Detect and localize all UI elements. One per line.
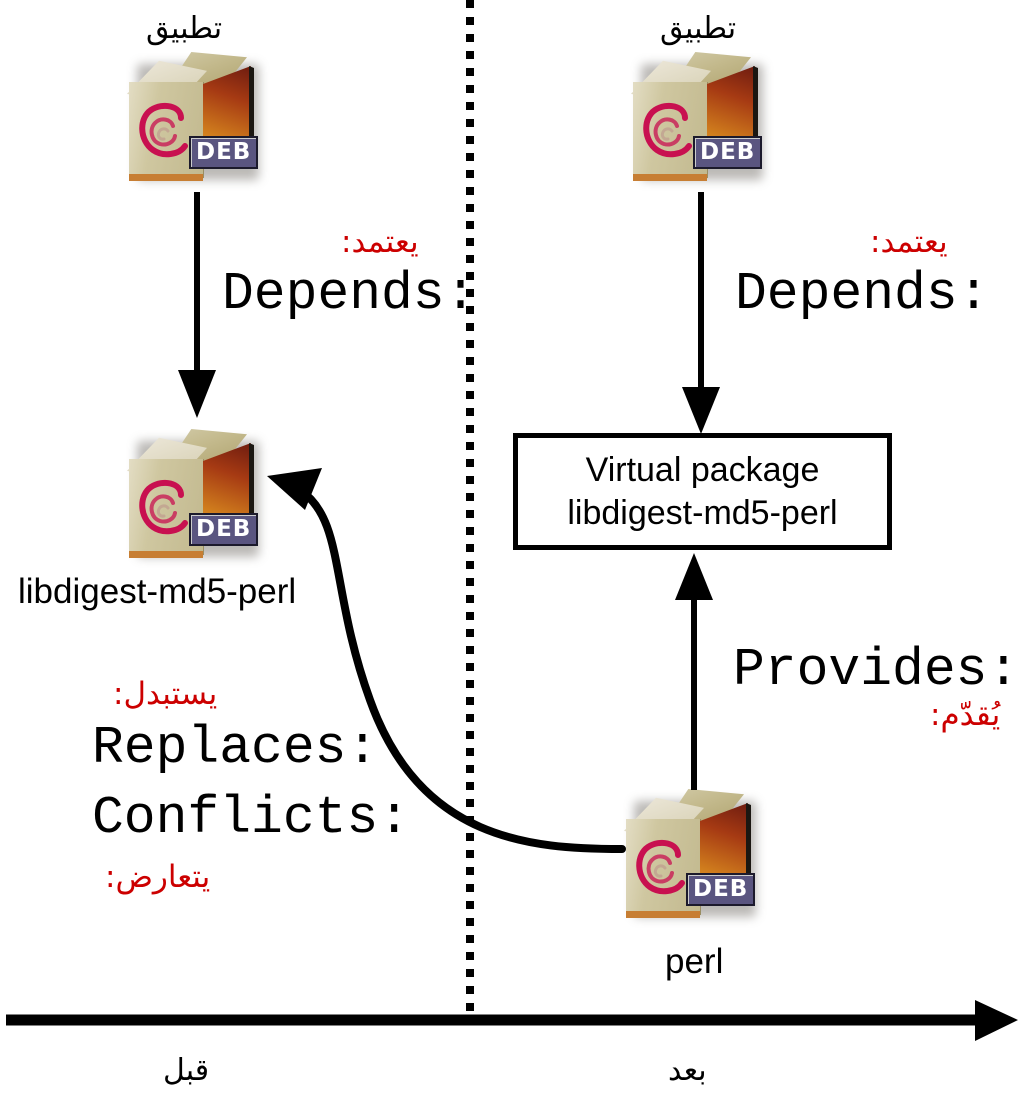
deb-badge-label: DEB bbox=[194, 140, 253, 165]
deb-badge: DEB bbox=[189, 513, 258, 546]
deb-badge-label: DEB bbox=[691, 877, 750, 902]
package-bottom-edge bbox=[626, 911, 700, 918]
debian-swirl-icon bbox=[634, 837, 690, 899]
before-after-divider bbox=[466, 0, 474, 1020]
axis-after-label: بعد bbox=[668, 1056, 707, 1086]
right-package-name-label: perl bbox=[665, 942, 723, 982]
left-depends-arabic-label: يعتمد: bbox=[341, 227, 419, 258]
virtual-package-box: Virtual package libdigest-md5-perl bbox=[513, 433, 892, 550]
right-bottom-package-icon: DEB bbox=[620, 785, 770, 925]
right-depends-arrow bbox=[682, 192, 720, 434]
left-depends-arrow bbox=[178, 192, 216, 418]
right-depends-label: Depends: bbox=[735, 268, 989, 321]
right-application-label: تطبيق bbox=[660, 14, 736, 44]
right-top-package-icon: DEB bbox=[627, 48, 777, 188]
virtual-package-name: libdigest-md5-perl bbox=[567, 492, 837, 535]
right-provides-arrow bbox=[675, 553, 713, 790]
left-application-label: تطبيق bbox=[146, 14, 222, 44]
left-top-package-icon: DEB bbox=[123, 48, 273, 188]
debian-swirl-icon bbox=[137, 477, 193, 539]
left-package-name-label: libdigest-md5-perl bbox=[18, 572, 296, 612]
left-conflicts-arabic-label: يتعارض: bbox=[105, 862, 210, 893]
virtual-package-title: Virtual package bbox=[586, 449, 820, 492]
debian-swirl-icon bbox=[137, 100, 193, 162]
debian-swirl-icon bbox=[641, 100, 697, 162]
package-bottom-edge bbox=[129, 551, 203, 558]
package-dependency-diagram: تطبيق DEB يعتمد: Depends: bbox=[0, 0, 1024, 1095]
left-depends-label: Depends: bbox=[222, 268, 476, 321]
deb-badge: DEB bbox=[686, 873, 755, 906]
left-conflicts-label: Conflicts: bbox=[92, 792, 410, 845]
right-provides-label: Provides: bbox=[733, 644, 1019, 697]
deb-badge: DEB bbox=[189, 136, 258, 169]
deb-badge-label: DEB bbox=[194, 517, 253, 542]
left-replaces-arabic-label: يستبدل: bbox=[113, 679, 217, 710]
left-bottom-package-icon: DEB bbox=[123, 425, 273, 565]
left-replaces-label: Replaces: bbox=[92, 722, 378, 775]
deb-badge: DEB bbox=[693, 136, 762, 169]
package-bottom-edge bbox=[633, 174, 707, 181]
deb-badge-label: DEB bbox=[698, 140, 757, 165]
package-bottom-edge bbox=[129, 174, 203, 181]
right-depends-arabic-label: يعتمد: bbox=[870, 227, 948, 258]
right-provides-arabic-label: يُقدّم: bbox=[930, 700, 1000, 731]
axis-before-label: قبل bbox=[163, 1056, 209, 1086]
time-axis-arrow bbox=[6, 1000, 1018, 1041]
